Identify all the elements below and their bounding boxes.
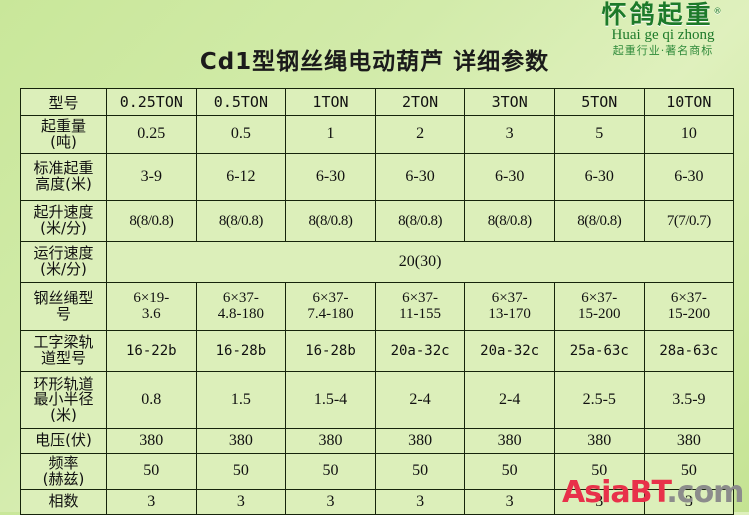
cell-voltage-0: 380 — [107, 429, 197, 454]
row-label-line2: (吨) — [22, 135, 105, 151]
cell-frequency-0: 50 — [107, 454, 197, 490]
cell-ibeam-track-6: 28a-63c — [644, 331, 734, 372]
cell-wire-rope-4: 6×37- 13-170 — [465, 283, 555, 331]
cell-phase-6: 3 — [644, 490, 734, 515]
logo-brand-chinese: 怀鸽起重® — [601, 2, 724, 27]
cell-wire-rope-2: 6×37- 7.4-180 — [286, 283, 376, 331]
row-label-line2: (米/分) — [22, 221, 105, 237]
cell-frequency-5: 50 — [554, 454, 644, 490]
cell-ibeam-track-0: 16-22b — [107, 331, 197, 372]
cell-lift-speed-4: 8(8/0.8) — [465, 201, 555, 242]
cell-ibeam-track-1: 16-28b — [196, 331, 286, 372]
rope-line1: 6×37- — [646, 291, 733, 307]
cell-frequency-6: 50 — [644, 454, 734, 490]
rope-line1: 6×37- — [198, 291, 285, 307]
rope-line1: 6×37- — [466, 291, 553, 307]
header-col-4: 3TON — [465, 89, 555, 116]
table-row-lift-speed: 起升速度 (米/分) 8(8/0.8) 8(8/0.8) 8(8/0.8) 8(… — [21, 201, 734, 242]
cell-voltage-3: 380 — [375, 429, 465, 454]
cell-lift-speed-2: 8(8/0.8) — [286, 201, 376, 242]
cell-capacity-5: 5 — [554, 116, 644, 154]
table-row-ibeam-track: 工字梁轨 道型号 16-22b 16-28b 16-28b 20a-32c 20… — [21, 331, 734, 372]
cell-phase-4: 3 — [465, 490, 555, 515]
cell-voltage-2: 380 — [286, 429, 376, 454]
cell-wire-rope-1: 6×37- 4.8-180 — [196, 283, 286, 331]
cell-curve-radius-0: 0.8 — [107, 372, 197, 429]
logo-pinyin: Huai ge qi zhong — [583, 28, 743, 43]
rope-line2: 11-155 — [377, 307, 464, 323]
table-row-curve-radius: 环形轨道 最小半径 (米) 0.8 1.5 1.5-4 2-4 2-4 2.5-… — [21, 372, 734, 429]
table-row-capacity: 起重量 (吨) 0.25 0.5 1 2 3 5 10 — [21, 116, 734, 154]
cell-lift-speed-6: 7(7/0.7) — [644, 201, 734, 242]
cell-wire-rope-0: 6×19- 3.6 — [107, 283, 197, 331]
rope-line1: 6×37- — [287, 291, 374, 307]
cell-phase-3: 3 — [375, 490, 465, 515]
cell-lift-speed-1: 8(8/0.8) — [196, 201, 286, 242]
rope-line2: 4.8-180 — [198, 307, 285, 323]
cell-lift-height-0: 3-9 — [107, 154, 197, 201]
row-label-travel-speed: 运行速度 (米/分) — [21, 242, 107, 283]
spec-table-container: 型号 0.25TON 0.5TON 1TON 2TON 3TON 5TON 10… — [20, 88, 734, 515]
cell-lift-height-5: 6-30 — [554, 154, 644, 201]
cell-frequency-3: 50 — [375, 454, 465, 490]
registered-trademark-icon: ® — [714, 7, 725, 16]
cell-capacity-1: 0.5 — [196, 116, 286, 154]
cell-curve-radius-6: 3.5-9 — [644, 372, 734, 429]
cell-ibeam-track-5: 25a-63c — [554, 331, 644, 372]
cell-ibeam-track-2: 16-28b — [286, 331, 376, 372]
rope-line2: 13-170 — [466, 307, 553, 323]
row-label-line2: (米/分) — [22, 262, 105, 278]
row-label-line2: 号 — [22, 307, 105, 323]
cell-lift-speed-0: 8(8/0.8) — [107, 201, 197, 242]
header-col-2: 1TON — [286, 89, 376, 116]
table-row-wire-rope: 钢丝绳型 号 6×19- 3.6 6×37- 4.8-180 6×37- 7.4… — [21, 283, 734, 331]
header-col-0: 0.25TON — [107, 89, 197, 116]
cell-frequency-4: 50 — [465, 454, 555, 490]
cell-wire-rope-5: 6×37- 15-200 — [554, 283, 644, 331]
rope-line2: 15-200 — [556, 307, 643, 323]
header-col-5: 5TON — [554, 89, 644, 116]
cell-phase-5: 3 — [554, 490, 644, 515]
row-label-voltage: 电压(伏) — [21, 429, 107, 454]
cell-capacity-4: 3 — [465, 116, 555, 154]
cell-ibeam-track-4: 20a-32c — [465, 331, 555, 372]
cell-voltage-6: 380 — [644, 429, 734, 454]
row-label-ibeam-track: 工字梁轨 道型号 — [21, 331, 107, 372]
row-label-wire-rope: 钢丝绳型 号 — [21, 283, 107, 331]
table-row-travel-speed: 运行速度 (米/分) 20(30) — [21, 242, 734, 283]
rope-line2: 3.6 — [108, 307, 195, 323]
cell-lift-height-6: 6-30 — [644, 154, 734, 201]
page-title: Cd1型钢丝绳电动葫芦 详细参数 — [0, 42, 749, 76]
cell-capacity-0: 0.25 — [107, 116, 197, 154]
table-row-lift-height: 标准起重 高度(米) 3-9 6-12 6-30 6-30 6-30 6-30 … — [21, 154, 734, 201]
cell-lift-height-4: 6-30 — [465, 154, 555, 201]
table-row-frequency: 频率 (赫兹) 50 50 50 50 50 50 50 — [21, 454, 734, 490]
row-label-line2: (赫兹) — [22, 472, 105, 488]
cell-lift-height-1: 6-12 — [196, 154, 286, 201]
cell-lift-height-3: 6-30 — [375, 154, 465, 201]
row-label-lift-height: 标准起重 高度(米) — [21, 154, 107, 201]
table-row-voltage: 电压(伏) 380 380 380 380 380 380 380 — [21, 429, 734, 454]
header-col-3: 2TON — [375, 89, 465, 116]
cell-capacity-6: 10 — [644, 116, 734, 154]
cell-curve-radius-1: 1.5 — [196, 372, 286, 429]
row-label-line1: 相数 — [22, 494, 105, 510]
header-col-6: 10TON — [644, 89, 734, 116]
row-label-phase: 相数 — [21, 490, 107, 515]
row-label-frequency: 频率 (赫兹) — [21, 454, 107, 490]
cell-ibeam-track-3: 20a-32c — [375, 331, 465, 372]
rope-line1: 6×19- — [108, 291, 195, 307]
cell-curve-radius-5: 2.5-5 — [554, 372, 644, 429]
cell-capacity-2: 1 — [286, 116, 376, 154]
cell-curve-radius-3: 2-4 — [375, 372, 465, 429]
row-label-line2: 高度(米) — [22, 177, 105, 193]
cell-curve-radius-2: 1.5-4 — [286, 372, 376, 429]
row-label-capacity: 起重量 (吨) — [21, 116, 107, 154]
cell-voltage-1: 380 — [196, 429, 286, 454]
table-row-phase: 相数 3 3 3 3 3 3 3 — [21, 490, 734, 515]
cell-voltage-4: 380 — [465, 429, 555, 454]
row-label-lift-speed: 起升速度 (米/分) — [21, 201, 107, 242]
cell-curve-radius-4: 2-4 — [465, 372, 555, 429]
cell-travel-speed-merged: 20(30) — [107, 242, 734, 283]
cell-capacity-3: 2 — [375, 116, 465, 154]
cell-lift-speed-3: 8(8/0.8) — [375, 201, 465, 242]
cell-wire-rope-3: 6×37- 11-155 — [375, 283, 465, 331]
cell-phase-1: 3 — [196, 490, 286, 515]
cell-phase-2: 3 — [286, 490, 376, 515]
rope-line2: 15-200 — [646, 307, 733, 323]
row-label-line3: (米) — [22, 408, 105, 424]
row-label-line1: 电压(伏) — [22, 433, 105, 449]
header-col-1: 0.5TON — [196, 89, 286, 116]
rope-line2: 7.4-180 — [287, 307, 374, 323]
cell-voltage-5: 380 — [554, 429, 644, 454]
cell-phase-0: 3 — [107, 490, 197, 515]
header-model-label: 型号 — [21, 89, 107, 116]
cell-frequency-2: 50 — [286, 454, 376, 490]
cell-frequency-1: 50 — [196, 454, 286, 490]
rope-line1: 6×37- — [377, 291, 464, 307]
logo-brand-text: 怀鸽起重 — [601, 0, 713, 29]
cell-lift-height-2: 6-30 — [286, 154, 376, 201]
cell-wire-rope-6: 6×37- 15-200 — [644, 283, 734, 331]
table-header-row: 型号 0.25TON 0.5TON 1TON 2TON 3TON 5TON 10… — [21, 89, 734, 116]
row-label-line2: 道型号 — [22, 351, 105, 367]
rope-line1: 6×37- — [556, 291, 643, 307]
row-label-curve-radius: 环形轨道 最小半径 (米) — [21, 372, 107, 429]
specification-table: 型号 0.25TON 0.5TON 1TON 2TON 3TON 5TON 10… — [20, 88, 734, 515]
cell-lift-speed-5: 8(8/0.8) — [554, 201, 644, 242]
